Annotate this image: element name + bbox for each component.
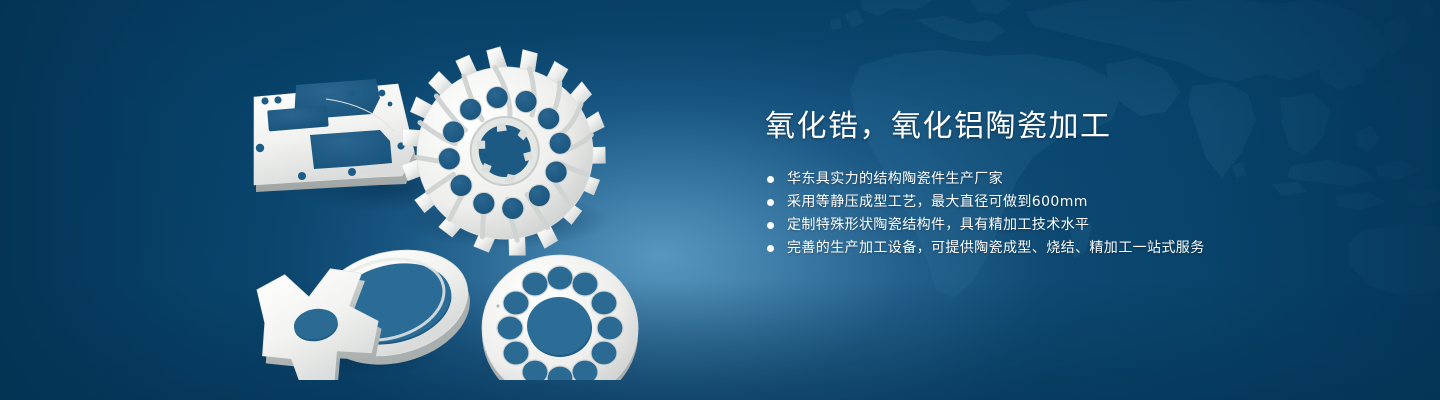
- feature-text: 采用等静压成型工艺，最大直径可做到600mm: [787, 191, 1088, 214]
- bullet-dot-icon: [767, 176, 774, 183]
- feature-list: 华东具实力的结构陶瓷件生产厂家 采用等静压成型工艺，最大直径可做到600mm 定…: [765, 168, 1365, 260]
- ceramic-perforated-disc: [482, 255, 638, 380]
- banner-text-block: 氧化锆，氧化铝陶瓷加工 华东具实力的结构陶瓷件生产厂家 采用等静压成型工艺，最大…: [765, 108, 1365, 260]
- bullet-dot-icon: [767, 245, 774, 252]
- bullet-dot-icon: [767, 199, 774, 206]
- feature-text: 完善的生产加工设备，可提供陶瓷成型、烧结、精加工一站式服务: [787, 237, 1205, 260]
- ceramic-products-photo: [230, 35, 730, 380]
- list-item: 华东具实力的结构陶瓷件生产厂家: [765, 168, 1365, 191]
- ceramic-machined-plate: [254, 79, 416, 192]
- hero-banner: 氧化锆，氧化铝陶瓷加工 华东具实力的结构陶瓷件生产厂家 采用等静压成型工艺，最大…: [0, 0, 1440, 400]
- list-item: 定制特殊形状陶瓷结构件，具有精加工技术水平: [765, 214, 1365, 237]
- bullet-dot-icon: [767, 222, 774, 229]
- list-item: 采用等静压成型工艺，最大直径可做到600mm: [765, 191, 1365, 214]
- list-item: 完善的生产加工设备，可提供陶瓷成型、烧结、精加工一站式服务: [765, 237, 1365, 260]
- feature-text: 华东具实力的结构陶瓷件生产厂家: [787, 168, 1003, 191]
- page-title: 氧化锆，氧化铝陶瓷加工: [765, 108, 1365, 146]
- feature-text: 定制特殊形状陶瓷结构件，具有精加工技术水平: [787, 214, 1089, 237]
